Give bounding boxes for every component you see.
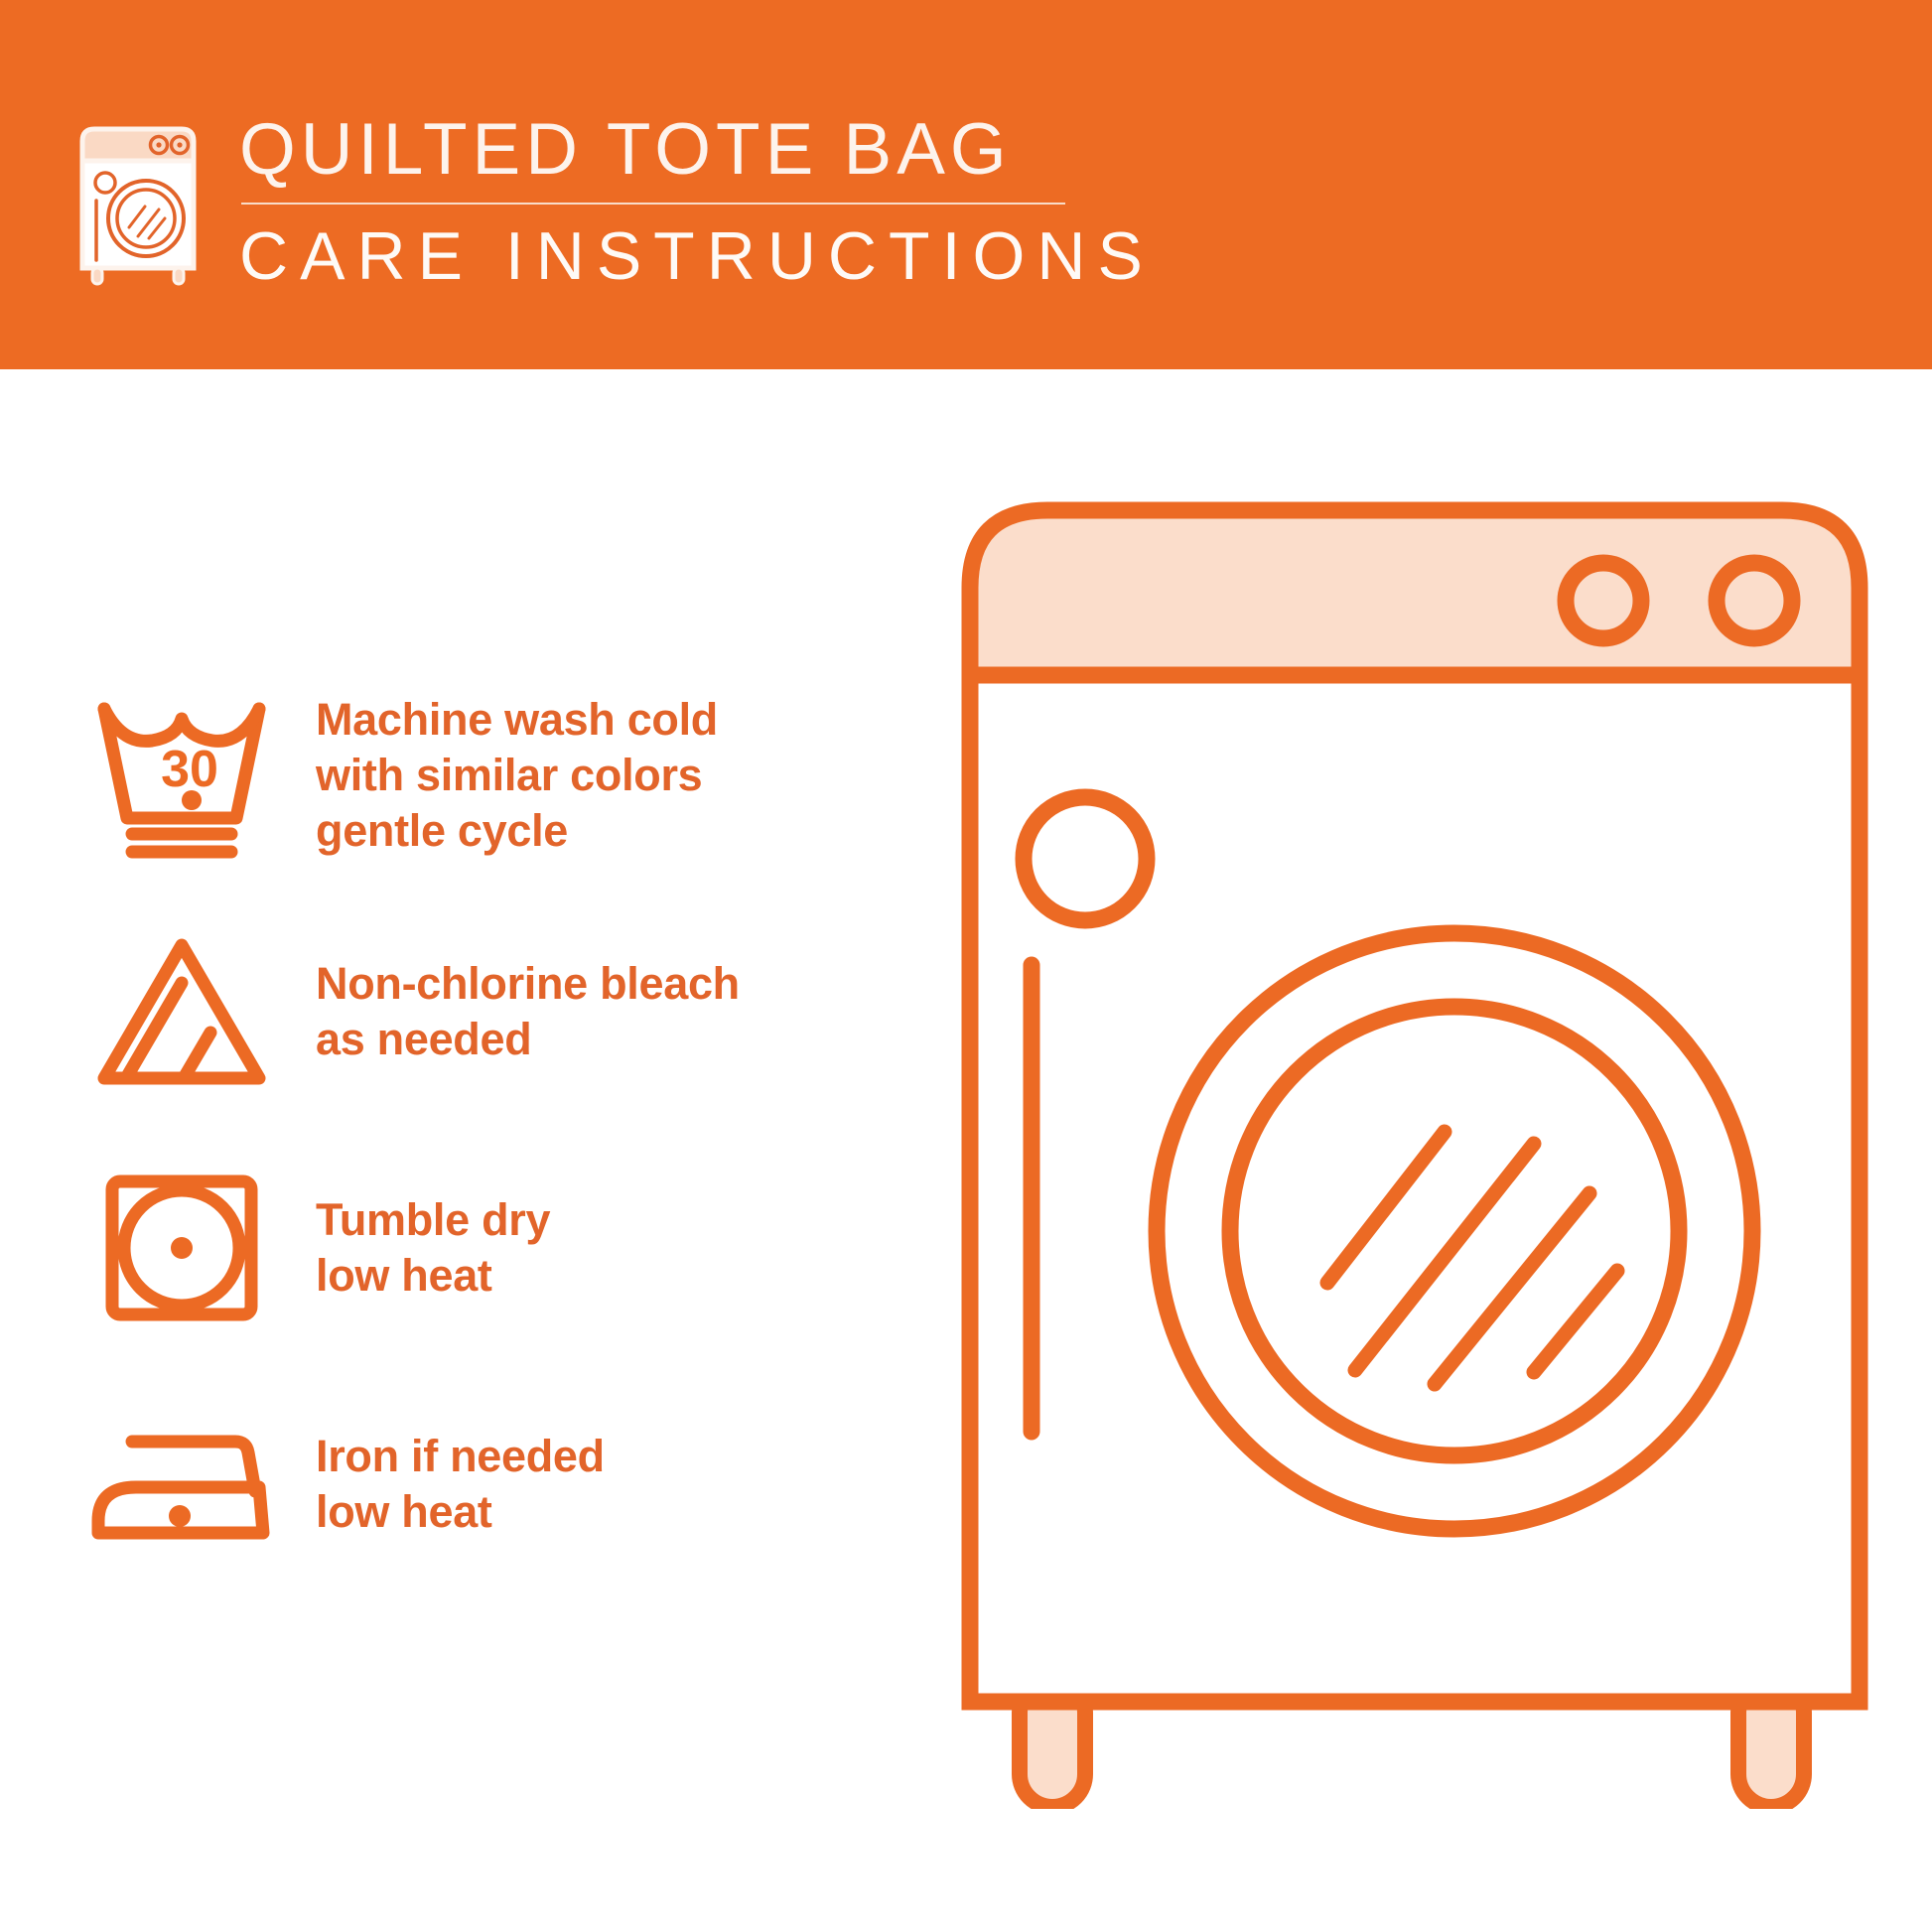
care-label-line: gentle cycle	[316, 803, 718, 859]
care-label-line: Non-chlorine bleach	[316, 956, 740, 1012]
page-title: QUILTED TOTE BAG	[239, 111, 1155, 189]
washer-knob	[1717, 563, 1792, 638]
tumble-dry-dot	[171, 1237, 193, 1259]
header-content: QUILTED TOTE BAG CARE INSTRUCTIONS	[74, 111, 1155, 292]
care-label: Iron if needed low heat	[316, 1429, 605, 1540]
main-content: 30 Machine wash cold with similar colors…	[0, 369, 1932, 1932]
header-banner: QUILTED TOTE BAG CARE INSTRUCTIONS	[0, 0, 1932, 369]
care-row: 30 Machine wash cold with similar colors…	[74, 657, 889, 894]
care-label-line: Tumble dry	[316, 1192, 550, 1248]
care-symbol	[74, 1400, 288, 1569]
non-chlorine-bleach-icon	[84, 927, 279, 1096]
wash-temperature-label: 30	[161, 741, 218, 798]
care-label: Machine wash cold with similar colors ge…	[316, 692, 718, 859]
washing-machine-illustration	[958, 498, 1871, 1809]
care-instruction-list: 30 Machine wash cold with similar colors…	[74, 657, 889, 1602]
title-divider	[241, 203, 1065, 205]
care-label-line: low heat	[316, 1484, 605, 1540]
care-row: Iron if needed low heat	[74, 1366, 889, 1602]
tumble-dry-low-icon	[84, 1164, 279, 1332]
care-label-line: Iron if needed	[316, 1429, 605, 1484]
header-title-group: QUILTED TOTE BAG CARE INSTRUCTIONS	[239, 111, 1155, 292]
care-row: Tumble dry low heat	[74, 1130, 889, 1366]
care-label: Tumble dry low heat	[316, 1192, 550, 1304]
care-label: Non-chlorine bleach as needed	[316, 956, 740, 1067]
page-subtitle: CARE INSTRUCTIONS	[239, 220, 1155, 292]
care-symbol: 30	[74, 691, 288, 860]
care-label-line: Machine wash cold	[316, 692, 718, 748]
washer-door-inner	[1230, 1007, 1679, 1455]
washing-machine-icon	[74, 115, 202, 286]
wash-temp-dot	[182, 790, 202, 810]
care-row: Non-chlorine bleach as needed	[74, 894, 889, 1130]
washer-dial	[1024, 797, 1147, 920]
iron-heat-dot	[169, 1505, 191, 1527]
care-label-line: with similar colors	[316, 748, 718, 803]
care-label-line: low heat	[316, 1248, 550, 1304]
care-symbol	[74, 927, 288, 1096]
machine-wash-30-icon: 30	[84, 691, 279, 860]
care-symbol	[74, 1164, 288, 1332]
care-label-line: as needed	[316, 1012, 740, 1067]
iron-low-heat-icon	[84, 1400, 279, 1569]
washer-knob	[1566, 563, 1641, 638]
